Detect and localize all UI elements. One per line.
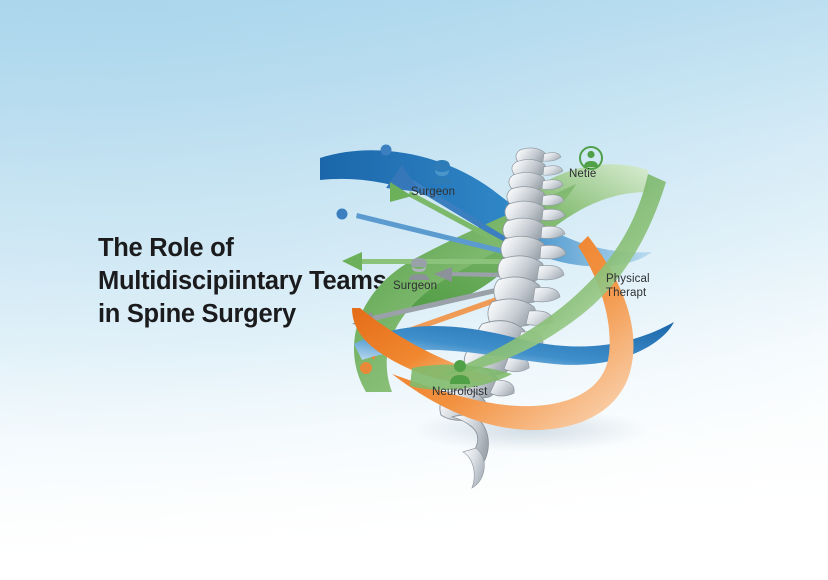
node-label-surgeon-middle: Surgeon bbox=[393, 280, 437, 292]
surgeon-icon-gray bbox=[406, 256, 432, 280]
node-label-nurse: Netie bbox=[569, 168, 596, 180]
node-label-neurologist: Neurolojist bbox=[432, 386, 487, 398]
node-label-surgeon-top: Surgeon bbox=[411, 186, 455, 198]
spine-teams-diagram: Surgeon Netie Surgeon Physical Therapt bbox=[330, 130, 690, 450]
slide-canvas: The Role of Multidiscipiintary Teams in … bbox=[0, 0, 828, 580]
person-icon bbox=[448, 358, 472, 384]
coccyx bbox=[463, 448, 484, 488]
surgeon-icon bbox=[428, 158, 456, 184]
ray-dot-blue-2 bbox=[337, 209, 348, 220]
node-label-physical-therapist: Physical Therapt bbox=[606, 272, 672, 300]
ray-dot-blue-1 bbox=[381, 145, 392, 156]
arrowhead-green-2 bbox=[342, 252, 362, 271]
ray-dot-orange-1 bbox=[360, 362, 372, 374]
